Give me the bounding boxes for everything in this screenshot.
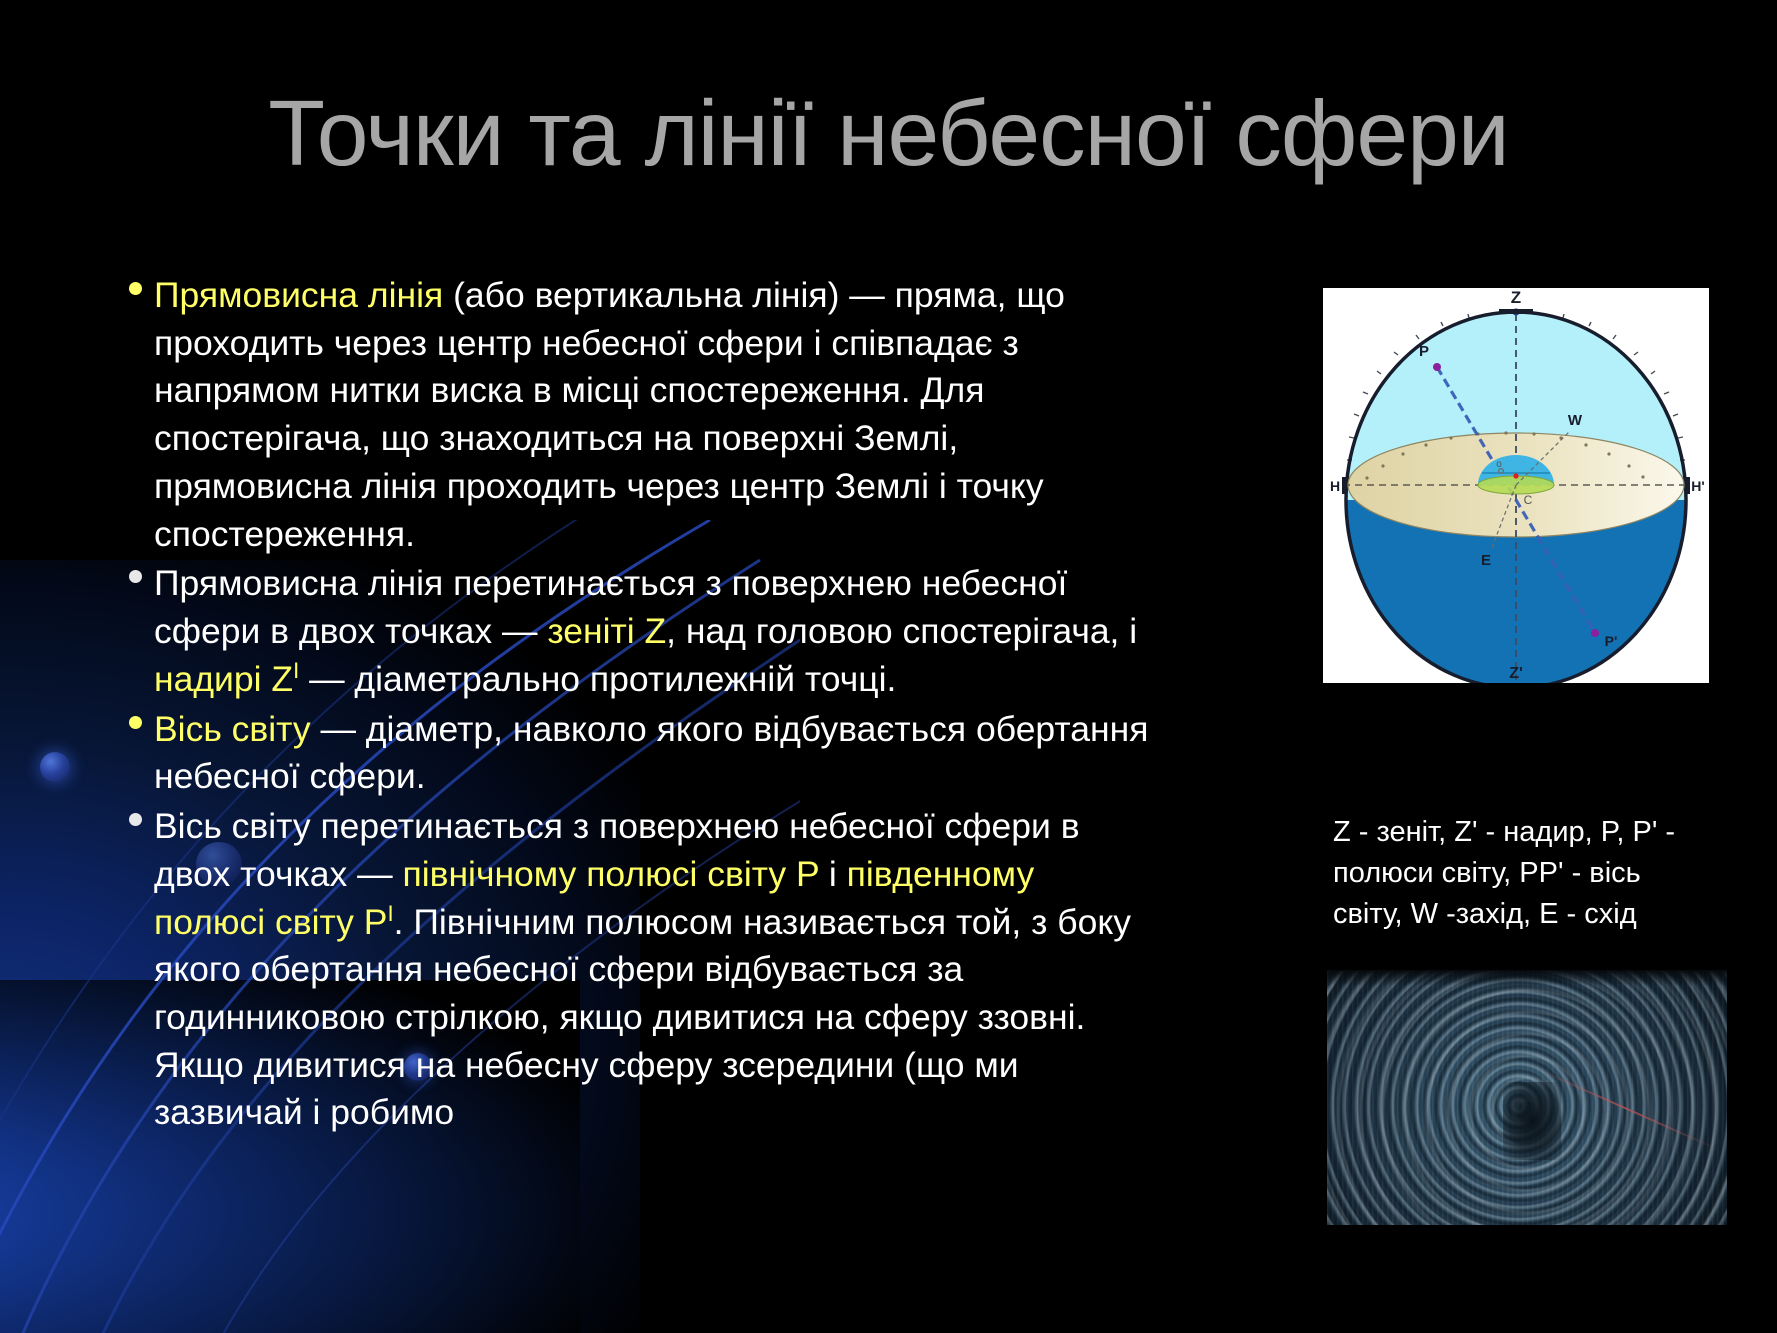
label-north-pole: P — [1419, 343, 1429, 360]
bullet-dot-icon — [129, 813, 142, 826]
list-item: Вісь світу — діаметр, навколо якого відб… — [122, 706, 1152, 801]
water-ripple-photo — [1327, 970, 1727, 1225]
label-horizon-right: H' — [1691, 478, 1704, 494]
highlight-term: Прямовисна лінія — [154, 275, 443, 315]
label-center: C — [1524, 493, 1533, 507]
highlight-term: надирі Z — [154, 659, 293, 699]
label-south-pole: P' — [1605, 633, 1618, 649]
highlight-term: зеніті Z — [547, 611, 666, 651]
ripple-top-shadow — [1327, 970, 1727, 986]
plain-text: — діаметрально протилежній точці. — [299, 659, 896, 699]
list-item: Прямовисна лінія (або вертикальна лінія)… — [122, 272, 1152, 558]
label-west: W — [1568, 412, 1583, 429]
label-horizon-left: H — [1330, 478, 1340, 494]
label-observer: o — [1496, 459, 1502, 470]
list-item: Вісь світу перетинається з поверхнею неб… — [122, 803, 1152, 1137]
bullet-dot-icon — [129, 716, 142, 729]
slide-canvas: Точки та лінії небесної сфери Прямовисна… — [0, 0, 1777, 1333]
page-title: Точки та лінії небесної сфери — [0, 86, 1777, 181]
figure-caption: Z - зеніт, Z' - надир, P, P' - полюси св… — [1333, 812, 1703, 936]
celestial-sphere-diagram: Z Z' P P' H H' W E C o — [1323, 288, 1709, 683]
label-east: E — [1481, 552, 1491, 569]
list-item: Прямовисна лінія перетинається з поверхн… — [122, 560, 1152, 703]
ripple-center — [1503, 1082, 1561, 1160]
label-nadir: Z' — [1509, 665, 1523, 682]
bullet-text-3: Вісь світу — діаметр, навколо якого відб… — [154, 709, 1148, 797]
plain-text: і — [819, 854, 847, 894]
bullet-text-4: Вісь світу перетинається з поверхнею неб… — [154, 806, 1131, 1132]
bullet-text-2: Прямовисна лінія перетинається з поверхн… — [154, 563, 1137, 698]
plain-text: , над головою спостерігача, і — [666, 611, 1137, 651]
highlight-term: північному полюсі світу P — [402, 854, 819, 894]
plain-text: (або вертикальна лінія) — пряма, що прох… — [154, 275, 1065, 554]
bullet-list: Прямовисна лінія (або вертикальна лінія)… — [122, 272, 1152, 1139]
decorative-planet-small — [40, 752, 70, 782]
bullet-dot-icon — [129, 282, 142, 295]
label-zenith: Z — [1511, 288, 1521, 307]
highlight-term: Вісь світу — [154, 709, 311, 749]
bullet-text-1: Прямовисна лінія (або вертикальна лінія)… — [154, 275, 1065, 554]
bullet-dot-icon — [129, 570, 142, 583]
